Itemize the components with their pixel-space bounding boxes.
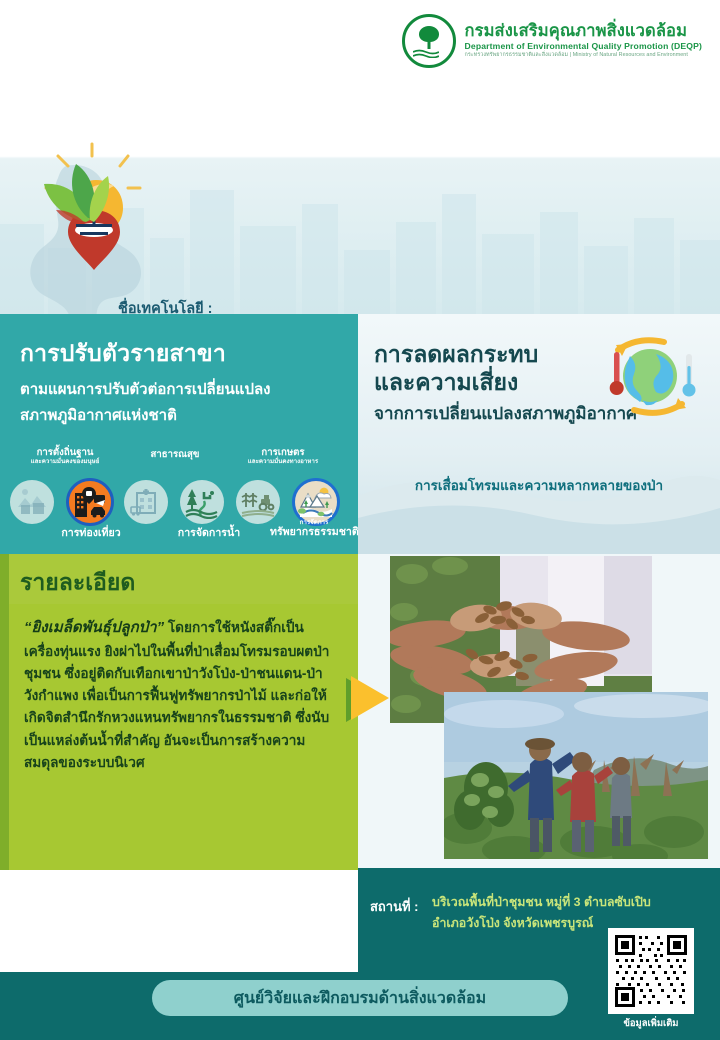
public-health-icon[interactable]	[124, 480, 168, 524]
sector-icon-row: การตั้งถิ่นฐาน และความมั่นคงของมนุษย์ สา…	[0, 448, 358, 554]
poster-root: กรมส่งเสริมคุณภาพสิ่งแวดล้อม Department …	[0, 0, 720, 1040]
deqp-seal-icon	[402, 14, 456, 68]
qr-caption: ข้อมูลเพิ่มเติม	[601, 1016, 701, 1031]
water-management-icon[interactable]	[180, 480, 224, 524]
details-body: “ยิงเมล็ดพันธุ์ปลูกป่า” โดยการใช้หนังสติ…	[24, 616, 336, 774]
sector-label-agriculture: การเกษตร และความมั่นคงทางอาหาร	[222, 448, 344, 466]
footer-center-pill[interactable]: ศูนย์วิจัยและฝึกอบรมด้านสิ่งแวดล้อม	[152, 980, 568, 1016]
sector-label-water: การจัดการน้ำ	[162, 528, 256, 540]
details-panel: รายละเอียด “ยิงเมล็ดพันธุ์ปลูกป่า” โดยกา…	[0, 554, 358, 870]
idea-location-pin-icon	[28, 142, 160, 278]
location-value: บริเวณพื้นที่ป่าชุมชน หมู่ที่ 3 ตำบลซับเ…	[432, 892, 712, 933]
org-name-en: Department of Environmental Quality Prom…	[465, 42, 702, 51]
location-line-1: บริเวณพื้นที่ป่าชุมชน หมู่ที่ 3 ตำบลซับเ…	[432, 892, 712, 913]
footer-center-label: ศูนย์วิจัยและฝึกอบรมด้านสิ่งแวดล้อม	[234, 986, 486, 1011]
technology-label: ชื่อเทคโนโลยี :	[118, 297, 213, 314]
details-heading: รายละเอียด	[20, 565, 135, 601]
details-left-edge	[0, 554, 9, 870]
adaptation-subheading-1: ตามแผนการปรับตัวต่อการเปลี่ยนแปลง	[20, 379, 358, 402]
deqp-logo: กรมส่งเสริมคุณภาพสิ่งแวดล้อม Department …	[402, 14, 702, 68]
natural-resources-glyph	[297, 483, 335, 521]
tourism-glyph	[72, 484, 108, 520]
adaptation-subheading-2: สภาพภูมิอากาศแห่งชาติ	[20, 405, 358, 428]
qr-code-icon[interactable]	[608, 928, 694, 1014]
sector-label-settlement: การตั้งถิ่นฐาน และความมั่นคงของมนุษย์	[6, 448, 124, 466]
agriculture-glyph	[240, 485, 276, 519]
hospital-glyph	[129, 485, 163, 519]
settlement-glyph	[15, 485, 49, 519]
title-zone: ชื่อเทคโนโลยี : “ยิงเมล็ดพันธุ์ปลูกป่า” …	[0, 82, 720, 314]
photo-planting-activity	[444, 692, 708, 859]
seal-wave-icon	[413, 49, 439, 58]
ministry-line: กระทรวงทรัพยากรธรรมชาติและสิ่งแวดล้อม | …	[465, 53, 702, 59]
impact-heading-line2: และความเสี่ยง	[374, 368, 538, 396]
impact-heading-line1: การลดผลกระทบ	[374, 340, 538, 368]
globe-climate-icon	[594, 330, 702, 422]
details-text: โดยการใช้หนังสติ๊กเป็นเครื่องทุ่นแรง ยิง…	[24, 620, 329, 770]
adaptation-heading: การปรับตัวรายสาขา	[20, 336, 358, 372]
impact-topic: การเสื่อมโทรมและความหลากหลายของป่า	[358, 474, 720, 496]
deqp-text-block: กรมส่งเสริมคุณภาพสิ่งแวดล้อม Department …	[465, 23, 702, 59]
sector-label-natural-resources: การจัดการ ทรัพยากรธรรมชาติ	[270, 520, 358, 539]
hills-graphic	[358, 450, 720, 554]
poster-header: กรมส่งเสริมคุณภาพสิ่งแวดล้อม Department …	[0, 0, 720, 82]
org-name-th: กรมส่งเสริมคุณภาพสิ่งแวดล้อม	[465, 23, 702, 41]
agriculture-icon[interactable]	[236, 480, 280, 524]
adaptation-panel: การปรับตัวรายสาขา ตามแผนการปรับตัวต่อการ…	[0, 314, 358, 554]
photo2-graphic	[444, 692, 708, 859]
tourism-icon[interactable]	[66, 478, 114, 526]
sector-label-tourism: การท่องเที่ยว	[44, 528, 138, 540]
water-glyph	[184, 485, 220, 519]
location-label: สถานที่ :	[370, 896, 419, 917]
qr-code-graphic	[613, 933, 689, 1009]
sector-label-public-health: สาธารณสุข	[130, 450, 220, 461]
impact-panel: การลดผลกระทบ และความเสี่ยง จากการเปลี่ยน…	[358, 314, 720, 554]
impact-heading: การลดผลกระทบ และความเสี่ยง	[374, 340, 538, 396]
play-arrow-icon	[340, 672, 390, 728]
details-quote: “ยิงเมล็ดพันธุ์ปลูกป่า”	[24, 619, 164, 636]
settlement-icon[interactable]	[10, 480, 54, 524]
